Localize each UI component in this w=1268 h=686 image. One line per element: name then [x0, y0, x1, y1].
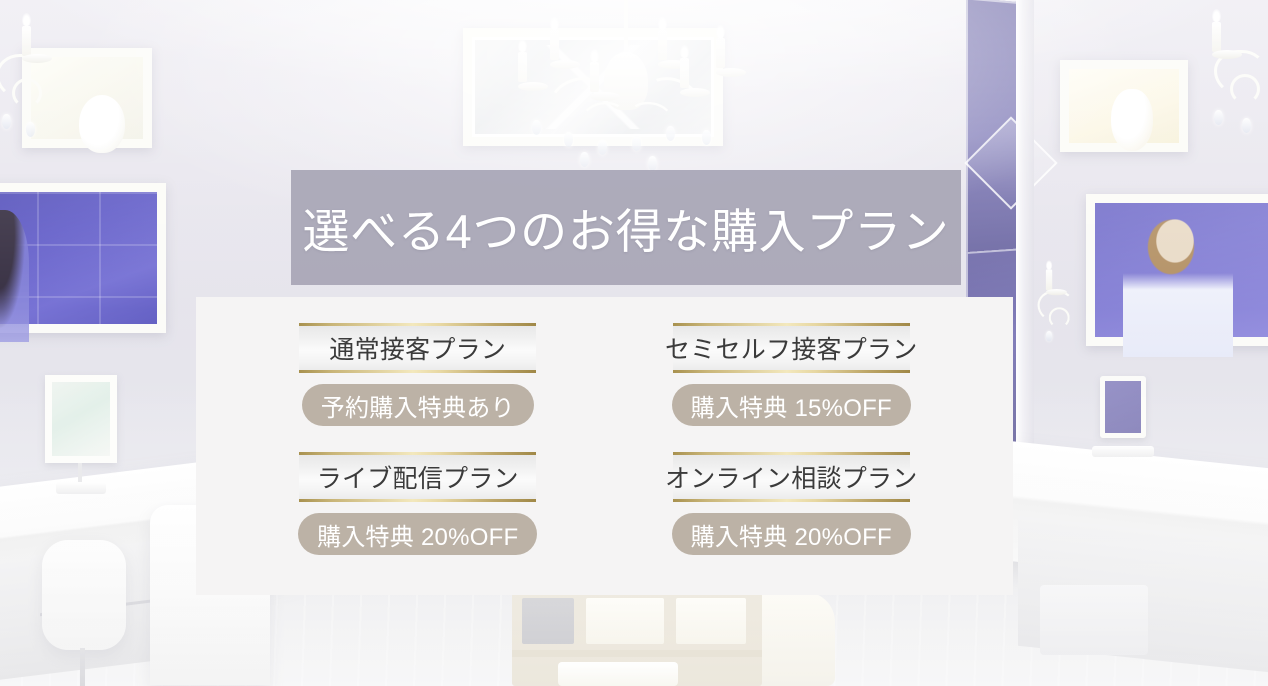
screen-surface: [0, 192, 157, 324]
plan-card-live-streaming[interactable]: ライブ配信プラン 購入特典 20%OFF: [238, 452, 598, 571]
tablet-icon: [1100, 376, 1146, 438]
plan-card-regular[interactable]: 通常接客プラン 予約購入特典あり: [238, 323, 598, 442]
plan-benefit-label: 購入特典 20%OFF: [691, 517, 892, 552]
plan-name-bar: ライブ配信プラン: [299, 452, 536, 502]
shelf-surface: [1069, 69, 1179, 143]
plan-name-label: ライブ配信プラン: [317, 459, 519, 495]
screen-surface: [1095, 203, 1268, 337]
plan-name-bar: セミセルフ接客プラン: [673, 323, 910, 373]
plan-benefit-badge: 購入特典 20%OFF: [298, 513, 537, 555]
plan-benefit-label: 購入特典 15%OFF: [691, 388, 892, 423]
plan-benefit-badge: 購入特典 20%OFF: [672, 513, 911, 555]
plan-name-label: セミセルフ接客プラン: [665, 330, 918, 366]
plan-benefit-label: 購入特典 20%OFF: [317, 517, 518, 552]
display-screen-icon: [1086, 194, 1268, 346]
page-root: 選べる4つのお得な購入プラン 通常接客プラン 予約購入特典あり セミセルフ接客プ…: [0, 0, 1268, 686]
salon-cart-icon: [1040, 585, 1148, 655]
plan-benefit-label: 予約購入特典あり: [321, 388, 515, 423]
wall-sconce-icon: [1025, 268, 1085, 352]
wall-sconce-icon: [0, 22, 64, 142]
mirror-base: [56, 482, 106, 494]
display-screen-icon: [0, 183, 166, 333]
plan-benefit-badge: 購入特典 15%OFF: [672, 384, 911, 426]
wall-sconce-icon: [1196, 18, 1268, 138]
salon-chair-icon: [42, 540, 126, 650]
chandelier-icon: [520, 0, 730, 175]
page-title: 選べる4つのお得な購入プラン: [302, 193, 949, 262]
plan-card-online-consult[interactable]: オンライン相談プラン 購入特典 20%OFF: [612, 452, 972, 571]
tablet-base: [1092, 446, 1154, 457]
vase-icon: [79, 95, 125, 153]
framed-shelf-icon: [1060, 60, 1188, 152]
table-mirror-icon: [45, 375, 117, 463]
plan-name-label: オンライン相談プラン: [665, 459, 918, 495]
vase-icon: [1111, 89, 1153, 151]
person-silhouette-icon: [0, 210, 29, 342]
towel-shelf-icon: [512, 590, 762, 686]
hero-title-banner: 選べる4つのお得な購入プラン: [291, 170, 961, 285]
person-silhouette-icon: [1123, 217, 1233, 357]
plan-name-bar: オンライン相談プラン: [673, 452, 910, 502]
plans-panel: 通常接客プラン 予約購入特典あり セミセルフ接客プラン 購入特典 15%OFF …: [196, 297, 1013, 595]
plan-name-label: 通常接客プラン: [329, 330, 506, 366]
plan-benefit-badge: 予約購入特典あり: [302, 384, 534, 426]
plan-name-bar: 通常接客プラン: [299, 323, 536, 373]
wall-pillar: [1016, 0, 1034, 470]
plan-card-semi-self[interactable]: セミセルフ接客プラン 購入特典 15%OFF: [612, 323, 972, 442]
